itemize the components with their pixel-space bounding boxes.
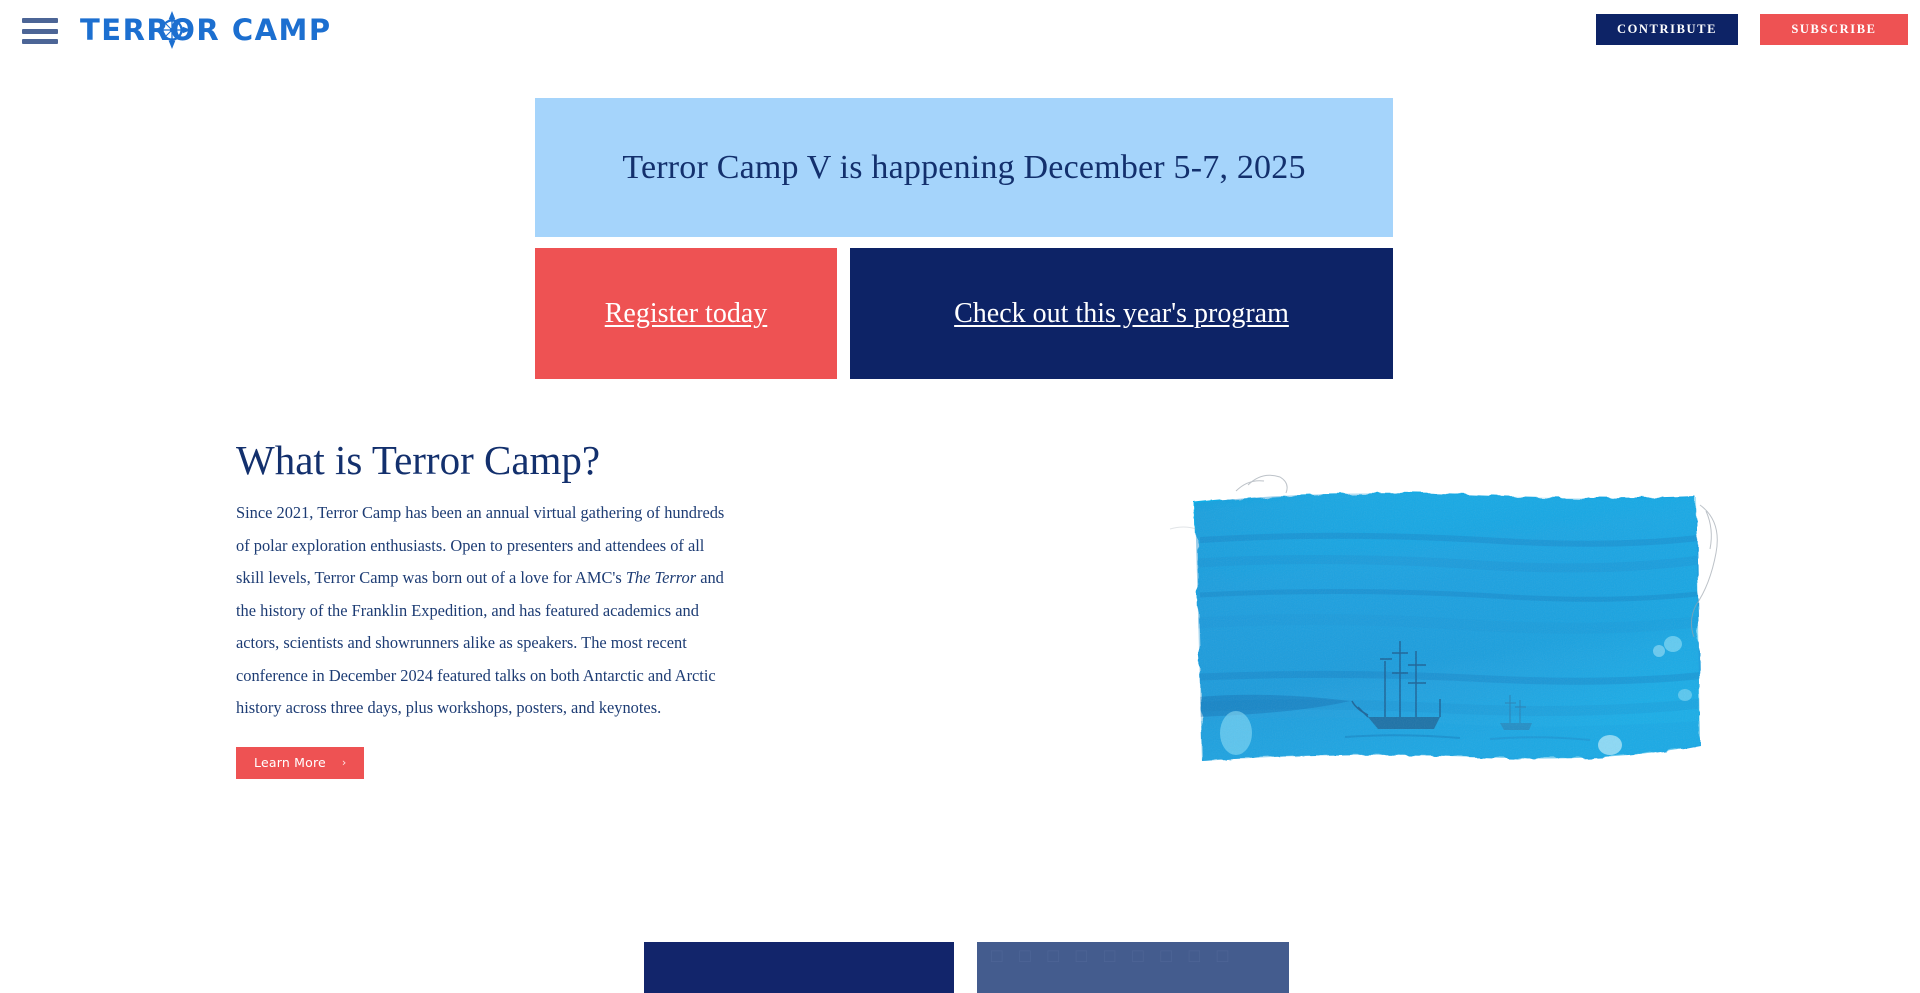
hamburger-bar	[22, 39, 58, 44]
hamburger-bar	[22, 29, 58, 34]
hamburger-bar	[22, 18, 58, 23]
header-actions: CONTRIBUTE SUBSCRIBE	[1596, 14, 1908, 45]
chevron-right-icon: ›	[342, 756, 346, 769]
announcement-text: Terror Camp V is happening December 5-7,…	[622, 149, 1305, 187]
cta-row: Register today Check out this year's pro…	[535, 248, 1393, 379]
watercolor-artwork	[1140, 445, 1750, 820]
page-title: What is Terror Camp?	[236, 438, 736, 483]
program-cta[interactable]: Check out this year's program	[850, 248, 1393, 379]
about-section: What is Terror Camp? Since 2021, Terror …	[236, 438, 736, 779]
artwork-illustration	[1140, 445, 1750, 820]
site-logo[interactable]: TERROR CAMP	[80, 12, 332, 48]
about-paragraph-italic-title: The Terror	[626, 568, 696, 587]
logo-text: TERROR CAMP	[80, 16, 332, 45]
subscribe-button[interactable]: SUBSCRIBE	[1760, 14, 1908, 45]
bottom-card-secondary[interactable]: □ □ □ □ □ □ □ □ □	[977, 942, 1289, 993]
register-cta[interactable]: Register today	[535, 248, 837, 379]
site-header: TERROR CAMP CONTRIBUTE SUBSCRIBE	[0, 0, 1920, 58]
learn-more-button[interactable]: Learn More ›	[236, 747, 364, 779]
contribute-button[interactable]: CONTRIBUTE	[1596, 14, 1738, 45]
hamburger-menu-icon[interactable]	[22, 18, 58, 44]
register-link[interactable]: Register today	[605, 298, 768, 330]
bottom-cards-row: □ □ □ □ □ □ □ □ □	[0, 942, 1920, 993]
announcement-banner: Terror Camp V is happening December 5-7,…	[535, 98, 1393, 237]
about-paragraph-part2: and the history of the Franklin Expediti…	[236, 568, 724, 717]
learn-more-label: Learn More	[254, 755, 326, 770]
bottom-card-secondary-text: □ □ □ □ □ □ □ □ □	[977, 942, 1289, 968]
program-link[interactable]: Check out this year's program	[954, 298, 1289, 330]
bottom-card-primary[interactable]	[644, 942, 954, 993]
about-paragraph: Since 2021, Terror Camp has been an annu…	[236, 497, 734, 725]
